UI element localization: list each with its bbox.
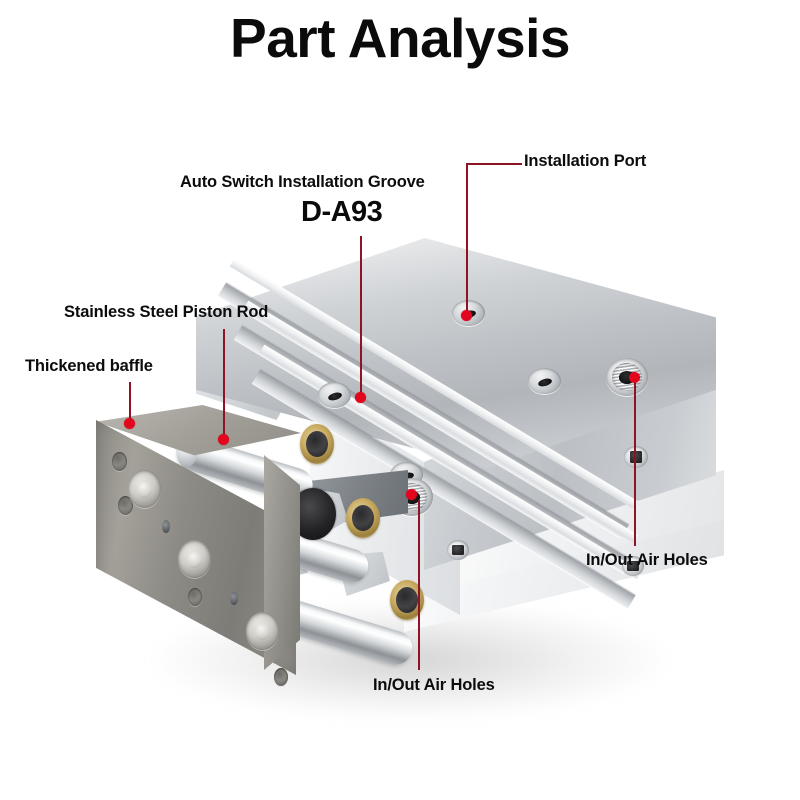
leader-line-installation-port-vertical [466,163,468,315]
baffle-hole-bottom-left [188,588,202,606]
baffle-hole-bottom-right [274,668,288,686]
callout-label-auto-switch-installation-groove: Auto Switch Installation Groove [180,173,425,192]
bearing-collar-2 [346,498,380,538]
baffle-pin-hole-2 [230,592,238,605]
leader-dot-installation-port [461,310,472,321]
socket-screw-front [447,540,469,560]
leader-line-in-out-air-holes-right [634,378,636,546]
leader-line-installation-port-horizontal [466,163,522,165]
socket-screw-right-upper [624,446,648,468]
air-port-right [606,358,648,396]
leader-dot-auto-switch-installation-groove [355,392,366,403]
baffle-hole-top-left [112,452,127,471]
baffle-counterbore-2 [178,540,211,578]
leader-dot-stainless-steel-piston-rod [218,434,229,445]
leader-dot-in-out-air-holes-right [629,372,640,383]
top-hole-2 [318,382,351,408]
leader-line-stainless-steel-piston-rod [223,329,225,440]
baffle-counterbore-3 [246,612,279,650]
callout-label-in-out-air-holes-bottom: In/Out Air Holes [373,676,495,695]
leader-line-auto-switch-installation-groove [360,236,362,398]
part-analysis-figure: Part Analysis [0,0,800,800]
callout-label-switch-model: D-A93 [301,196,382,229]
baffle-counterbore-1 [128,470,161,508]
callout-label-in-out-air-holes-right: In/Out Air Holes [586,551,708,570]
callout-label-thickened-baffle: Thickened baffle [25,357,153,376]
callout-label-stainless-steel-piston-rod: Stainless Steel Piston Rod [64,303,268,322]
bearing-collar-1 [300,424,334,464]
top-hole-3 [528,368,561,394]
leader-dot-in-out-air-holes-bottom [406,489,417,500]
baffle-pin-hole-1 [162,520,170,533]
leader-line-in-out-air-holes-bottom [418,500,420,670]
leader-dot-thickened-baffle [124,418,135,429]
callout-label-installation-port: Installation Port [524,152,646,171]
